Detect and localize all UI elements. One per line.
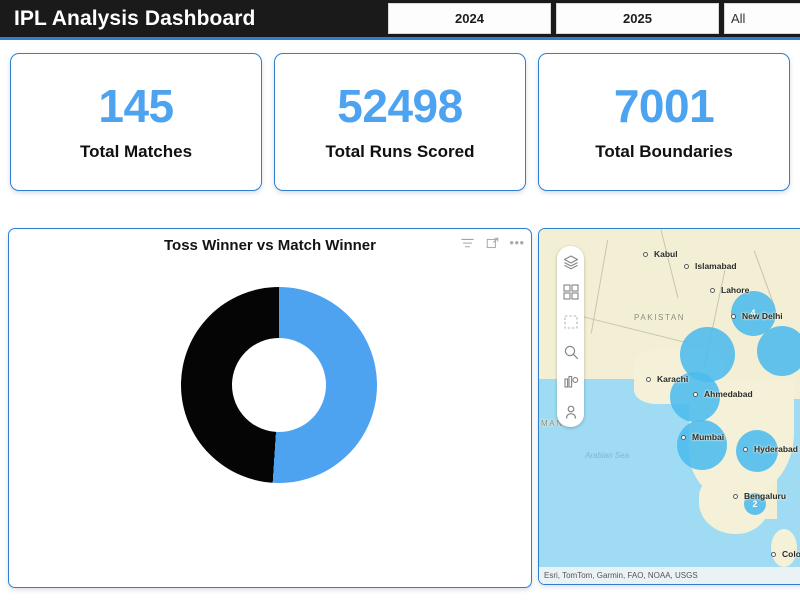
select-box-icon[interactable] <box>562 313 579 330</box>
more-options-icon[interactable]: ••• <box>510 236 524 250</box>
map-city-dot <box>731 314 736 319</box>
map-label-bengaluru: Bengaluru <box>744 491 786 501</box>
infographics-icon[interactable] <box>562 373 579 390</box>
slicer-year-2025[interactable]: 2025 <box>556 3 719 34</box>
map-bubble[interactable] <box>757 326 800 376</box>
map-city-dot <box>710 288 715 293</box>
search-icon[interactable] <box>562 343 579 360</box>
map-border-line <box>661 230 679 298</box>
donut-center-hole <box>232 338 326 432</box>
map-label-colombo: Colombo <box>782 549 800 559</box>
map-attribution: Esri, TomTom, Garmin, FAO, NOAA, USGS <box>539 567 800 584</box>
map-city-dot <box>693 392 698 397</box>
map-toolbar <box>557 246 584 427</box>
kpi-card-total-boundaries[interactable]: 7001 Total Boundaries <box>538 53 790 191</box>
map-label-islamabad: Islamabad <box>695 261 737 271</box>
map-city-dot <box>681 435 686 440</box>
map-canvas[interactable]: 42KabulIslamabadLahoreNew DelhiPAKISTANK… <box>539 229 800 584</box>
donut-chart-graphic[interactable] <box>181 287 377 483</box>
header-accent-divider <box>0 37 800 40</box>
map-city-dot <box>743 447 748 452</box>
map-city-dot <box>733 494 738 499</box>
map-city-dot <box>646 377 651 382</box>
kpi-card-total-runs-scored[interactable]: 52498 Total Runs Scored <box>274 53 526 191</box>
map-label-lahore: Lahore <box>721 285 749 295</box>
map-label-mumbai: Mumbai <box>692 432 724 442</box>
kpi-label: Total Matches <box>80 142 192 162</box>
kpi-card-total-matches[interactable]: 145 Total Matches <box>10 53 262 191</box>
map-label-new-delhi: New Delhi <box>742 311 783 321</box>
map-label-ahmedabad: Ahmedabad <box>704 389 753 399</box>
map-visual-panel[interactable]: 42KabulIslamabadLahoreNew DelhiPAKISTANK… <box>538 228 800 585</box>
map-label-pakistan: PAKISTAN <box>634 313 685 322</box>
dashboard-root: IPL Analysis Dashboard 2024 2025 All 145… <box>0 0 800 600</box>
map-city-dot <box>684 264 689 269</box>
layers-icon[interactable] <box>562 253 579 270</box>
map-city-dot <box>771 552 776 557</box>
map-bubble[interactable] <box>677 420 727 470</box>
map-label-arabian-sea: Arabian Sea <box>577 451 637 461</box>
kpi-value: 7001 <box>614 82 714 130</box>
page-title: IPL Analysis Dashboard <box>14 7 255 31</box>
map-label-hyderabad: Hyderabad <box>754 444 798 454</box>
kpi-value: 145 <box>98 82 173 130</box>
map-label-karachi: Karachi <box>657 374 688 384</box>
kpi-label: Total Boundaries <box>595 142 733 162</box>
donut-chart-title: Toss Winner vs Match Winner <box>9 237 531 254</box>
map-label-kabul: Kabul <box>654 249 678 259</box>
slicer-dropdown-all[interactable]: All <box>724 3 800 34</box>
year-slicer-group: 2024 2025 All <box>388 3 800 34</box>
focus-mode-icon[interactable] <box>485 236 499 250</box>
visual-header-toolbar: ••• <box>460 236 524 250</box>
kpi-value: 52498 <box>337 82 462 130</box>
app-header: IPL Analysis Dashboard 2024 2025 All <box>0 0 800 37</box>
kpi-label: Total Runs Scored <box>326 142 475 162</box>
map-land-sri-lanka <box>771 529 797 567</box>
basemap-grid-icon[interactable] <box>562 283 579 300</box>
map-city-dot <box>643 252 648 257</box>
location-person-icon[interactable] <box>562 403 579 420</box>
slicer-year-2024[interactable]: 2024 <box>388 3 551 34</box>
filter-icon[interactable] <box>460 236 474 250</box>
donut-chart-panel: Toss Winner vs Match Winner ••• Toss Win… <box>8 228 532 588</box>
